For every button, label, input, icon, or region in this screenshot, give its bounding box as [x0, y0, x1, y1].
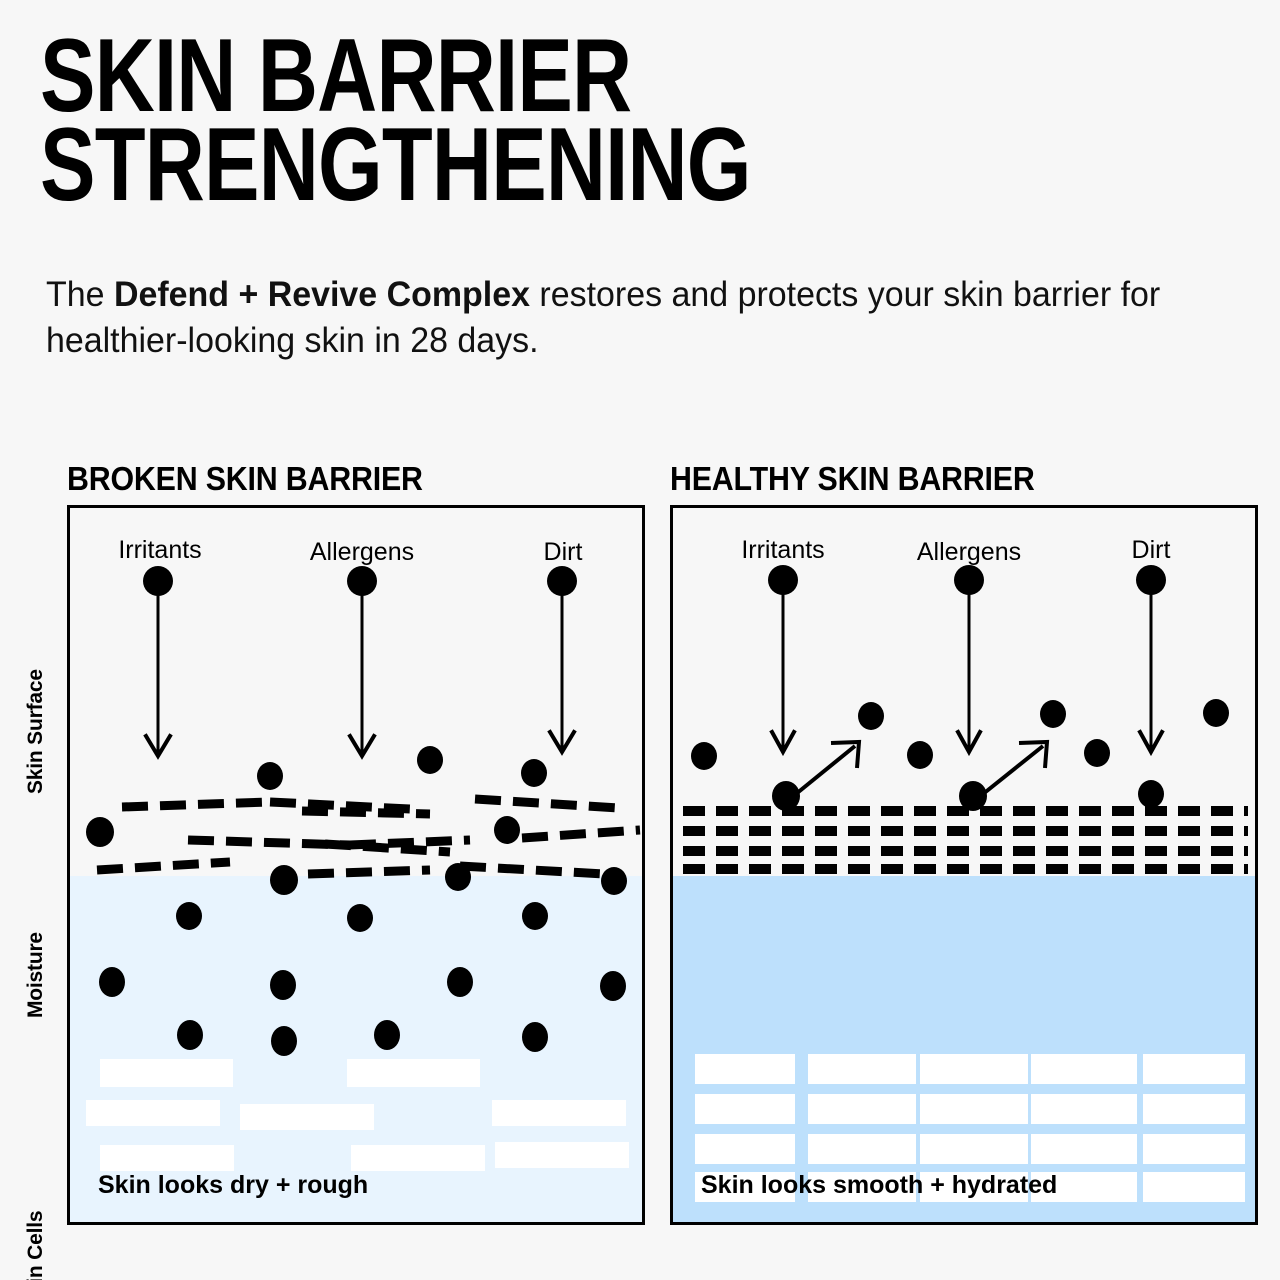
caption-broken: Skin looks dry + rough	[98, 1171, 368, 1200]
penetration-arrow-irritants	[143, 566, 173, 756]
penetration-arrow-allergens	[347, 566, 377, 756]
particle	[177, 1020, 203, 1050]
infographic-root: SKIN BARRIER STRENGTHENING The Defend + …	[0, 0, 1280, 1280]
contaminant-label-dirt: Dirt	[544, 538, 583, 567]
caption-healthy: Skin looks smooth + hydrated	[701, 1171, 1057, 1200]
particle	[691, 742, 717, 770]
particle	[447, 967, 473, 997]
skin-cell-block	[695, 1134, 795, 1164]
skin-cell-block	[920, 1094, 1028, 1124]
skin-cell-block	[1143, 1054, 1245, 1084]
particle	[1040, 700, 1066, 728]
axis-label-skin-surface: Skin Surface	[24, 669, 48, 794]
contaminant-label-allergens: Allergens	[917, 538, 1021, 567]
deflection-arrow-1	[791, 742, 859, 798]
particle	[907, 741, 933, 769]
particle	[772, 781, 800, 811]
barrier-line-group-intact	[683, 811, 1248, 869]
particle	[522, 1022, 548, 1052]
particle	[271, 1026, 297, 1056]
skin-cell-block	[920, 1054, 1028, 1084]
deflection-arrow-2	[978, 742, 1047, 798]
panel-broken-skin-barrier: Irritants Allergens Dirt	[67, 505, 645, 1225]
axis-label-moisture: Moisture	[24, 932, 48, 1018]
skin-cell-block	[347, 1059, 480, 1087]
blocked-arrow-irritants	[768, 565, 798, 752]
skin-cell-block	[100, 1059, 233, 1087]
particle	[601, 867, 627, 895]
blocked-arrow-dirt	[1136, 565, 1166, 752]
barrier-fragment-group-1	[97, 802, 470, 870]
panel-title-broken: BROKEN SKIN BARRIER	[67, 460, 423, 498]
subhead-brand-complex: Defend + Revive Complex	[114, 275, 530, 314]
particle	[600, 971, 626, 1001]
skin-cell-block	[495, 1142, 629, 1168]
contaminant-label-irritants: Irritants	[741, 536, 824, 565]
skin-cell-block	[86, 1100, 220, 1126]
particle	[270, 970, 296, 1000]
contaminant-label-allergens: Allergens	[310, 538, 414, 567]
skin-cell-block	[1031, 1134, 1137, 1164]
skin-cell-block	[492, 1100, 626, 1126]
axis-label-skin-cells: Skin Cells	[24, 1211, 48, 1280]
skin-cell-block	[1143, 1172, 1245, 1202]
skin-cell-block	[1143, 1134, 1245, 1164]
skin-cell-block	[920, 1134, 1028, 1164]
skin-cell-block	[808, 1054, 916, 1084]
title-line-2: STRENGTHENING	[40, 121, 840, 210]
skin-cell-block	[351, 1145, 485, 1171]
panel-title-healthy: HEALTHY SKIN BARRIER	[670, 460, 1035, 498]
particle	[1084, 739, 1110, 767]
particle	[374, 1020, 400, 1050]
skin-cell-block	[808, 1094, 916, 1124]
particle	[522, 902, 548, 930]
page-title: SKIN BARRIER STRENGTHENING	[40, 32, 1040, 211]
particle	[858, 702, 884, 730]
particle	[86, 817, 114, 847]
barrier-fragment-group-3	[460, 799, 640, 874]
skin-cell-block	[695, 1094, 795, 1124]
particle	[1138, 780, 1164, 808]
particle	[257, 762, 283, 790]
skin-cell-block	[1143, 1094, 1245, 1124]
contaminant-label-irritants: Irritants	[118, 536, 201, 565]
panel-healthy-skin-barrier: Irritants Allergens Dirt	[670, 505, 1258, 1225]
skin-cell-block	[1031, 1094, 1137, 1124]
particle	[959, 781, 987, 811]
particle	[445, 863, 471, 891]
particle	[494, 816, 520, 844]
skin-cell-block	[100, 1145, 234, 1171]
subhead-prefix: The	[46, 275, 114, 314]
contaminant-label-dirt: Dirt	[1132, 536, 1171, 565]
skin-cell-block	[695, 1054, 795, 1084]
skin-cell-block	[1031, 1054, 1137, 1084]
skin-cell-block	[240, 1104, 374, 1130]
particle	[521, 759, 547, 787]
particle	[270, 865, 298, 895]
barrier-fragment-group-2	[302, 811, 450, 874]
penetration-arrow-dirt	[547, 566, 577, 752]
particle	[417, 746, 443, 774]
particle	[99, 967, 125, 997]
skin-cell-block	[808, 1134, 916, 1164]
particle	[1203, 699, 1229, 727]
blocked-arrow-allergens	[954, 565, 984, 752]
particle	[176, 902, 202, 930]
subheading: The Defend + Revive Complex restores and…	[46, 272, 1200, 364]
particle	[347, 904, 373, 932]
